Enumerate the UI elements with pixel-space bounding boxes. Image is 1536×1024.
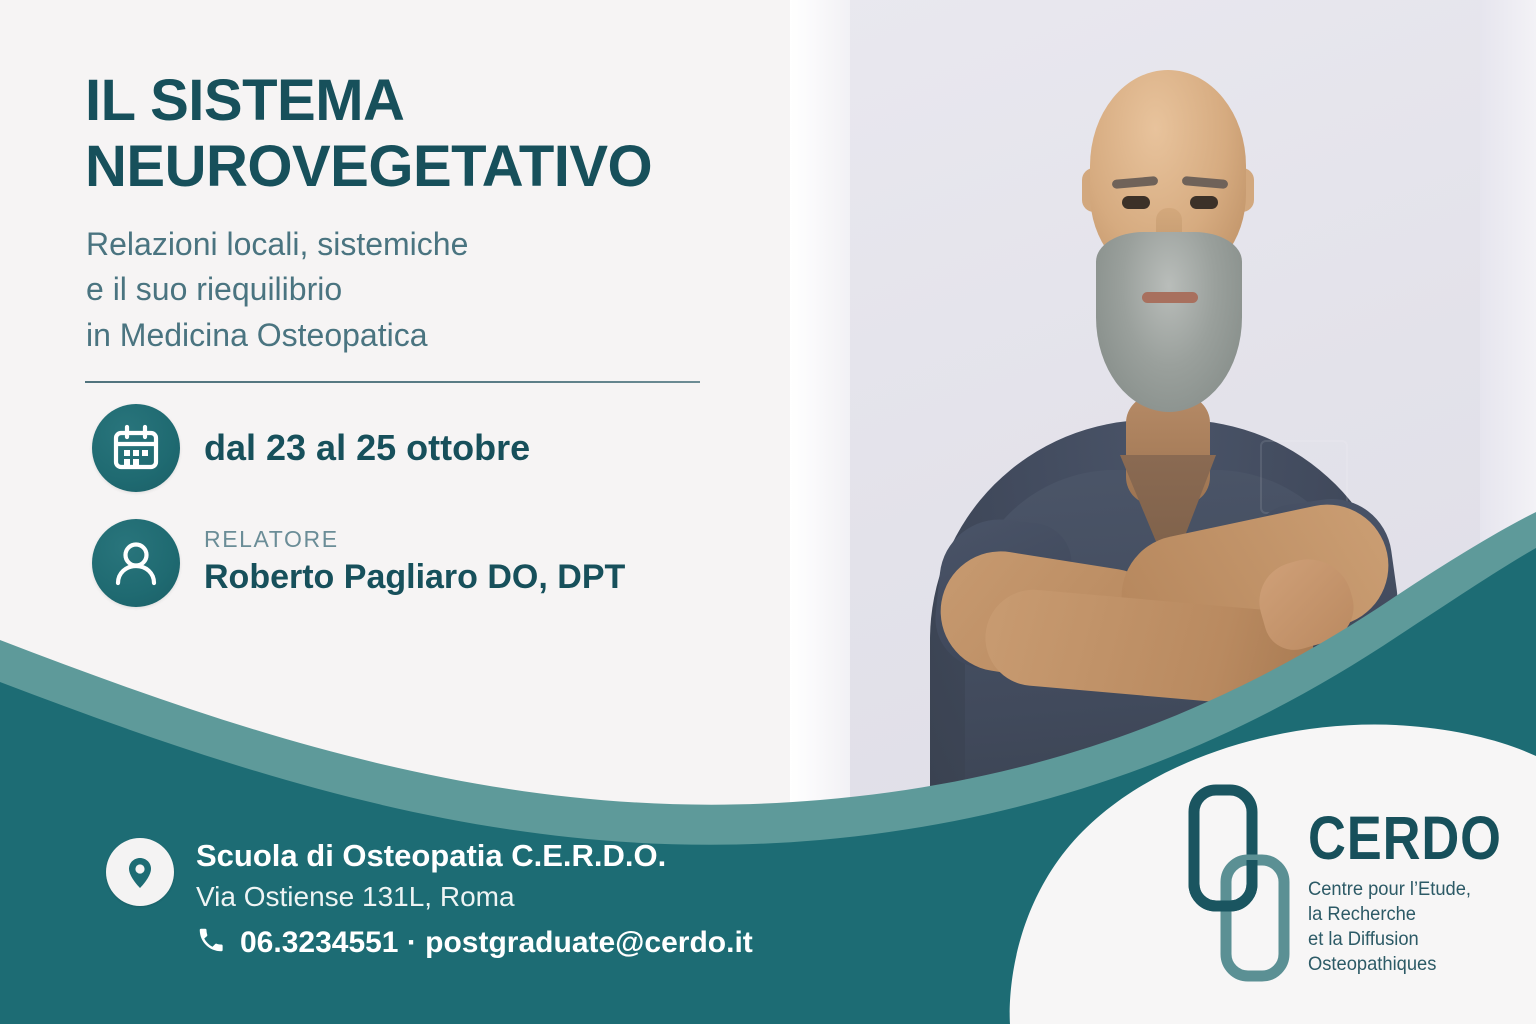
logo-name: CERDO: [1308, 809, 1502, 868]
cerdo-link-mark-icon: [1186, 782, 1294, 1004]
logo-tagline-line-4: Osteopathiques: [1308, 952, 1520, 977]
street-address: Via Ostiense 131L, Roma: [196, 879, 666, 915]
logo-tagline-line-1: Centre pour l’Etude,: [1308, 877, 1520, 902]
school-name: Scuola di Osteopatia C.E.R.D.O.: [196, 838, 666, 875]
address-text: Scuola di Osteopatia C.E.R.D.O. Via Osti…: [196, 838, 666, 915]
logo-tagline-line-3: et la Diffusion: [1308, 927, 1520, 952]
address-row: Scuola di Osteopatia C.E.R.D.O. Via Osti…: [106, 838, 666, 915]
logo-tagline: Centre pour l’Etude, la Recherche et la …: [1308, 877, 1520, 977]
contact-details: 06.3234551 · postgraduate@cerdo.it: [240, 926, 753, 960]
logo-text: CERDO Centre pour l’Etude, la Recherche …: [1308, 809, 1533, 976]
contact-row: 06.3234551 · postgraduate@cerdo.it: [196, 925, 753, 960]
phone-icon: [196, 925, 226, 960]
poster: IL SISTEMA NEUROVEGETATIVO Relazioni loc…: [0, 0, 1536, 1024]
location-pin-icon: [106, 838, 174, 906]
logo-tagline-line-2: la Recherche: [1308, 902, 1520, 927]
cerdo-logo: CERDO Centre pour l’Etude, la Recherche …: [1186, 782, 1533, 1004]
